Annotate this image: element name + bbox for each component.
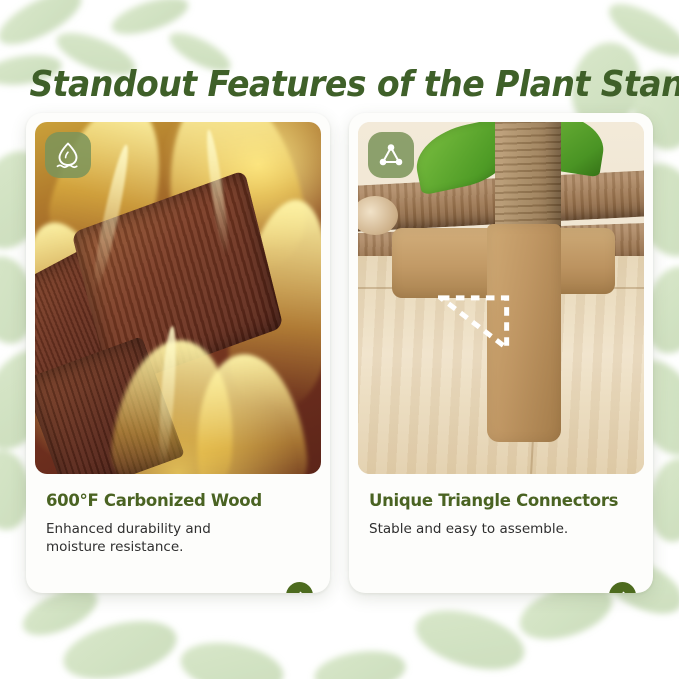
water-drop-icon (55, 141, 81, 169)
triangle-connector-photo (358, 122, 644, 474)
feature-poster: Standout Features of the Plant Stand (0, 0, 679, 679)
triangle-nodes-badge (368, 132, 414, 178)
triangle-nodes-icon (378, 142, 404, 168)
feature-card-carbonized-wood[interactable]: 600°F Carbonized Wood Enhanced durabilit… (26, 113, 330, 593)
dashed-triangle-annotation (438, 287, 510, 357)
card-body: 600°F Carbonized Wood Enhanced durabilit… (26, 474, 330, 583)
feature-card-list: 600°F Carbonized Wood Enhanced durabilit… (26, 113, 653, 593)
burning-wood-photo (35, 122, 321, 474)
card-description: Stable and easy to assemble. (369, 521, 574, 539)
feature-card-triangle-connectors[interactable]: Unique Triangle Connectors Stable and ea… (349, 113, 653, 593)
page-title-container: Standout Features of the Plant Stand (0, 40, 679, 129)
card-description: Enhanced durability and moisture resista… (46, 521, 251, 557)
card-body: Unique Triangle Connectors Stable and ea… (349, 474, 653, 583)
card-title: 600°F Carbonized Wood (46, 491, 302, 511)
card-title: Unique Triangle Connectors (369, 491, 625, 511)
arrow-right-icon (615, 588, 630, 593)
card-arrow-button[interactable] (609, 582, 636, 593)
water-drop-badge (45, 132, 91, 178)
arrow-right-icon (292, 588, 307, 593)
page-title: Standout Features of the Plant Stand (29, 64, 679, 105)
card-arrow-button[interactable] (286, 582, 313, 593)
